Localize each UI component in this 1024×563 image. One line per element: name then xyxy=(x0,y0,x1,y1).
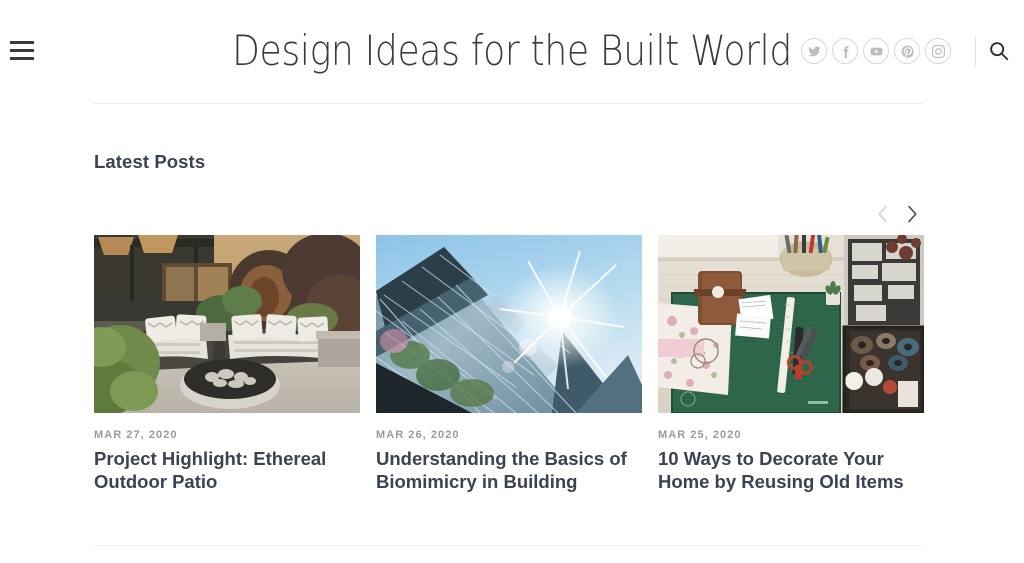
section-bottom-rule xyxy=(94,545,922,546)
pinterest-icon[interactable] xyxy=(894,38,920,64)
header-bottom-rule xyxy=(94,103,922,104)
youtube-icon[interactable] xyxy=(863,38,889,64)
post-date: MAR 27, 2020 xyxy=(94,428,360,442)
post-title[interactable]: Understanding the Basics of Biomimicry i… xyxy=(376,447,642,493)
header-divider xyxy=(975,36,976,67)
post-date: MAR 25, 2020 xyxy=(658,428,924,442)
twitter-icon[interactable] xyxy=(801,38,827,64)
hamburger-bar xyxy=(10,41,34,44)
hamburger-bar xyxy=(10,49,34,52)
hamburger-menu-icon[interactable] xyxy=(10,41,34,60)
latest-posts-carousel: MAR 27, 2020 Project Highlight: Ethereal… xyxy=(94,235,922,493)
facebook-icon[interactable] xyxy=(832,38,858,64)
instagram-icon[interactable] xyxy=(925,38,951,64)
post-thumbnail[interactable] xyxy=(376,235,642,413)
list-item: MAR 26, 2020 Understanding the Basics of… xyxy=(376,235,642,493)
site-header: Design Ideas for the Built World xyxy=(0,0,1024,104)
chevron-left-icon[interactable] xyxy=(872,203,892,225)
social-links xyxy=(801,38,951,64)
post-title[interactable]: Project Highlight: Ethereal Outdoor Pati… xyxy=(94,447,360,493)
list-item: MAR 27, 2020 Project Highlight: Ethereal… xyxy=(94,235,360,493)
hamburger-bar xyxy=(10,57,34,60)
post-thumbnail[interactable] xyxy=(94,235,360,413)
page-title: Latest Posts xyxy=(94,149,205,175)
post-date: MAR 26, 2020 xyxy=(376,428,642,442)
list-item: MAR 25, 2020 10 Ways to Decorate Your Ho… xyxy=(658,235,924,493)
post-title[interactable]: 10 Ways to Decorate Your Home by Reusing… xyxy=(658,447,924,493)
page-root: Design Ideas for the Built World xyxy=(0,0,1024,563)
post-thumbnail[interactable] xyxy=(658,235,924,413)
chevron-right-icon[interactable] xyxy=(902,203,922,225)
carousel-navigation xyxy=(872,203,922,225)
search-icon[interactable] xyxy=(988,40,1010,62)
